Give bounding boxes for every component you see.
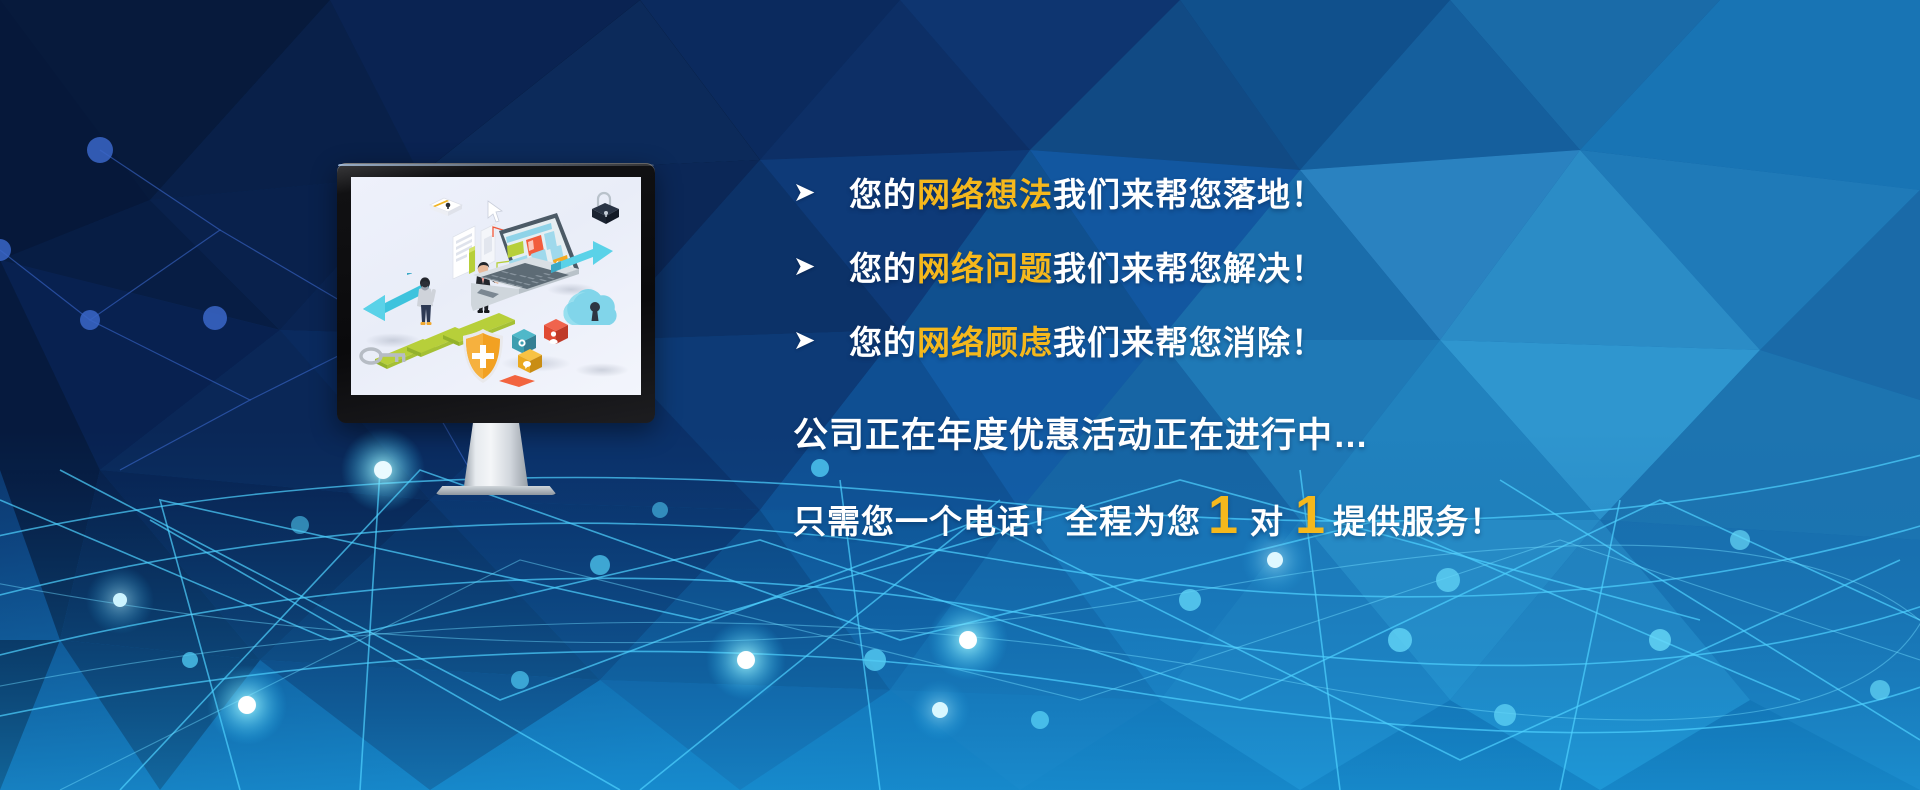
bullet-item-2: ➤ 您的网络问题我们来帮您解决！ xyxy=(793,229,1553,303)
cta-lead: 只需您一个电话！全程为您 xyxy=(793,495,1201,543)
user-app-icon xyxy=(543,317,569,349)
arrow-right-icon: ➤ xyxy=(793,179,833,206)
accent-strip xyxy=(497,373,537,389)
highlight-keyword: 网络想法 xyxy=(917,176,1053,213)
bullet-item-3: ➤ 您的网络顾虑我们来帮您消除！ xyxy=(793,303,1553,377)
bullet-item-1: ➤ 您的网络想法我们来帮您落地！ xyxy=(793,155,1553,229)
monitor-bezel xyxy=(337,163,655,423)
cta-number-two: 1 xyxy=(1288,494,1333,537)
cta-line: 只需您一个电话！全程为您 1 对 1 提供服务！ xyxy=(793,494,1553,543)
person-figure xyxy=(413,275,439,329)
promo-line: 公司正在年度优惠活动正在进行中… xyxy=(793,407,1553,458)
bullet-text-1: 您的网络想法我们来帮您落地！ xyxy=(849,168,1325,216)
key-icon xyxy=(359,343,407,369)
arrow-right-icon: ➤ xyxy=(793,327,833,354)
arrow-right-up-icon xyxy=(549,231,615,275)
highlight-keyword: 网络顾虑 xyxy=(917,324,1053,361)
cta-number-one: 1 xyxy=(1201,494,1246,537)
bullet-text-2: 您的网络问题我们来帮您解决！ xyxy=(849,242,1325,290)
marketing-copy: ➤ 您的网络想法我们来帮您落地！ ➤ 您的网络问题我们来帮您解决！ ➤ 您的网络… xyxy=(793,155,1553,543)
keycard-icon xyxy=(429,197,463,219)
promo-banner: ➤ 您的网络想法我们来帮您落地！ ➤ 您的网络问题我们来帮您解决！ ➤ 您的网络… xyxy=(0,0,1920,790)
arrow-right-icon: ➤ xyxy=(793,253,833,280)
monitor-base xyxy=(435,486,557,495)
monitor-screen xyxy=(351,177,641,395)
cta-middle: 对 xyxy=(1246,495,1288,543)
cta-tail: 提供服务！ xyxy=(1333,495,1503,543)
imac-monitor xyxy=(337,163,655,495)
bullet-text-3: 您的网络顾虑我们来帮您消除！ xyxy=(849,316,1325,364)
highlight-keyword: 网络问题 xyxy=(917,250,1053,287)
padlock-icon xyxy=(587,189,623,227)
apple-logo-icon xyxy=(491,376,502,389)
monitor-neck xyxy=(464,423,528,486)
